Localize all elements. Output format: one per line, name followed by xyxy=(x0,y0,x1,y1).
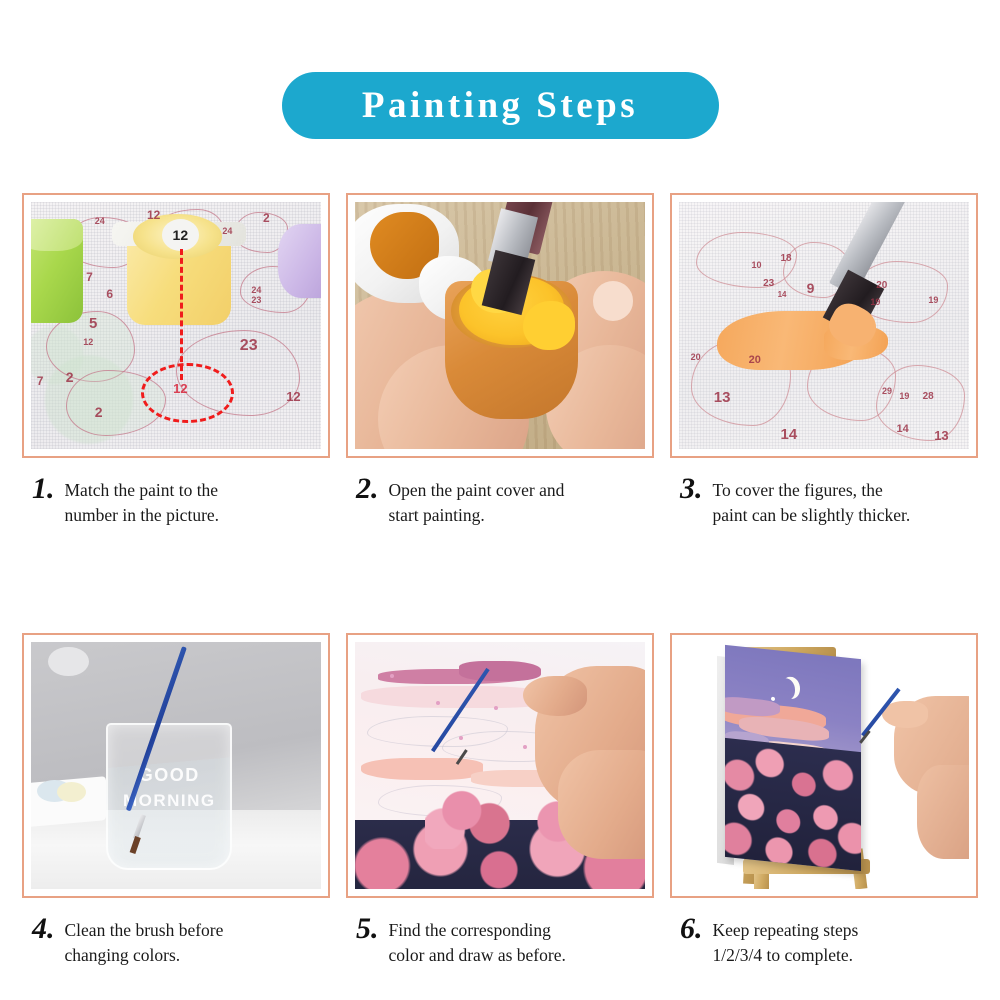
step-4-caption: 4. Clean the brush before changing color… xyxy=(22,914,330,968)
title-banner: Painting Steps xyxy=(282,72,719,139)
water-glass: GOOD MORNING xyxy=(106,723,232,870)
step-5-caption: 5. Find the corresponding color and draw… xyxy=(346,914,654,968)
fingernail xyxy=(593,281,634,321)
clean-brush-in-water-photo: GOOD MORNING xyxy=(31,642,321,889)
step-4-line-1: Clean the brush before xyxy=(65,918,224,943)
blossom-cluster xyxy=(425,785,518,849)
step-3-photo-frame: 10 18 23 14 9 20 19 19 20 20 13 14 29 19… xyxy=(670,193,978,458)
step-3-caption: 3. To cover the figures, the paint can b… xyxy=(670,474,978,528)
blossom-foreground xyxy=(725,737,861,871)
step-5-line-2: color and draw as before. xyxy=(389,943,566,968)
step-6-photo-frame xyxy=(670,633,978,898)
step-2-number: 2. xyxy=(356,474,379,504)
step-4-text: Clean the brush before changing colors. xyxy=(65,914,224,968)
step-5-text: Find the corresponding color and draw as… xyxy=(389,914,566,968)
step-2-photo-frame xyxy=(346,193,654,458)
highlight-dashed-ellipse xyxy=(141,363,234,423)
step-5-line-1: Find the corresponding xyxy=(389,918,566,943)
step-5-photo-frame xyxy=(346,633,654,898)
step-2-line-1: Open the paint cover and xyxy=(389,478,565,503)
step-3-line-1: To cover the figures, the xyxy=(713,478,911,503)
step-6-text: Keep repeating steps 1/2/3/4 to complete… xyxy=(713,914,859,968)
step-card-4: GOOD MORNING 4. Clean the brush before c… xyxy=(22,633,330,968)
step-4-number: 4. xyxy=(32,914,55,944)
open-paint-pot-photo xyxy=(355,202,645,449)
finished-painting-easel-photo xyxy=(679,642,969,889)
step-card-5: 5. Find the corresponding color and draw… xyxy=(346,633,654,968)
step-4-photo-frame: GOOD MORNING xyxy=(22,633,330,898)
step-card-2: 2. Open the paint cover and start painti… xyxy=(346,193,654,528)
step-card-1: 12 12 12 2 24 24 7 6 5 12 2 7 2 23 24 xyxy=(22,193,330,528)
header-area: Painting Steps xyxy=(0,0,1000,139)
step-2-text: Open the paint cover and start painting. xyxy=(389,474,565,528)
step-1-caption: 1. Match the paint to the number in the … xyxy=(22,474,330,528)
highlight-number: 12 xyxy=(173,382,187,395)
step-4-line-2: changing colors. xyxy=(65,943,224,968)
step-5-number: 5. xyxy=(356,914,379,944)
step-1-number: 1. xyxy=(32,474,55,504)
step-2-caption: 2. Open the paint cover and start painti… xyxy=(346,474,654,528)
step-3-text: To cover the figures, the paint can be s… xyxy=(713,474,911,528)
pot-label: 12 xyxy=(173,227,189,243)
highlight-dashed-line xyxy=(180,249,183,380)
star-icon xyxy=(772,696,776,700)
step-1-text: Match the paint to the number in the pic… xyxy=(65,474,220,528)
steps-grid: 12 12 12 2 24 24 7 6 5 12 2 7 2 23 24 xyxy=(22,193,978,967)
step-1-photo-frame: 12 12 12 2 24 24 7 6 5 12 2 7 2 23 24 xyxy=(22,193,330,458)
finished-painting xyxy=(725,644,861,871)
paint-pot-number-match-photo: 12 12 12 2 24 24 7 6 5 12 2 7 2 23 24 xyxy=(31,202,321,449)
step-1-line-1: Match the paint to the xyxy=(65,478,220,503)
painting-in-progress-photo xyxy=(355,642,645,889)
step-3-number: 3. xyxy=(680,474,703,504)
page-title: Painting Steps xyxy=(362,84,638,127)
step-2-line-2: start painting. xyxy=(389,503,565,528)
step-6-caption: 6. Keep repeating steps 1/2/3/4 to compl… xyxy=(670,914,978,968)
step-card-6: 6. Keep repeating steps 1/2/3/4 to compl… xyxy=(670,633,978,968)
step-3-line-2: paint can be slightly thicker. xyxy=(713,503,911,528)
step-6-line-1: Keep repeating steps xyxy=(713,918,859,943)
thick-paint-stroke-photo: 10 18 23 14 9 20 19 19 20 20 13 14 29 19… xyxy=(679,202,969,449)
step-6-number: 6. xyxy=(680,914,703,944)
crescent-moon-icon xyxy=(783,676,801,699)
glass-text-line-1: GOOD xyxy=(108,765,230,786)
step-1-line-2: number in the picture. xyxy=(65,503,220,528)
step-card-3: 10 18 23 14 9 20 19 19 20 20 13 14 29 19… xyxy=(670,193,978,528)
step-6-line-2: 1/2/3/4 to complete. xyxy=(713,943,859,968)
